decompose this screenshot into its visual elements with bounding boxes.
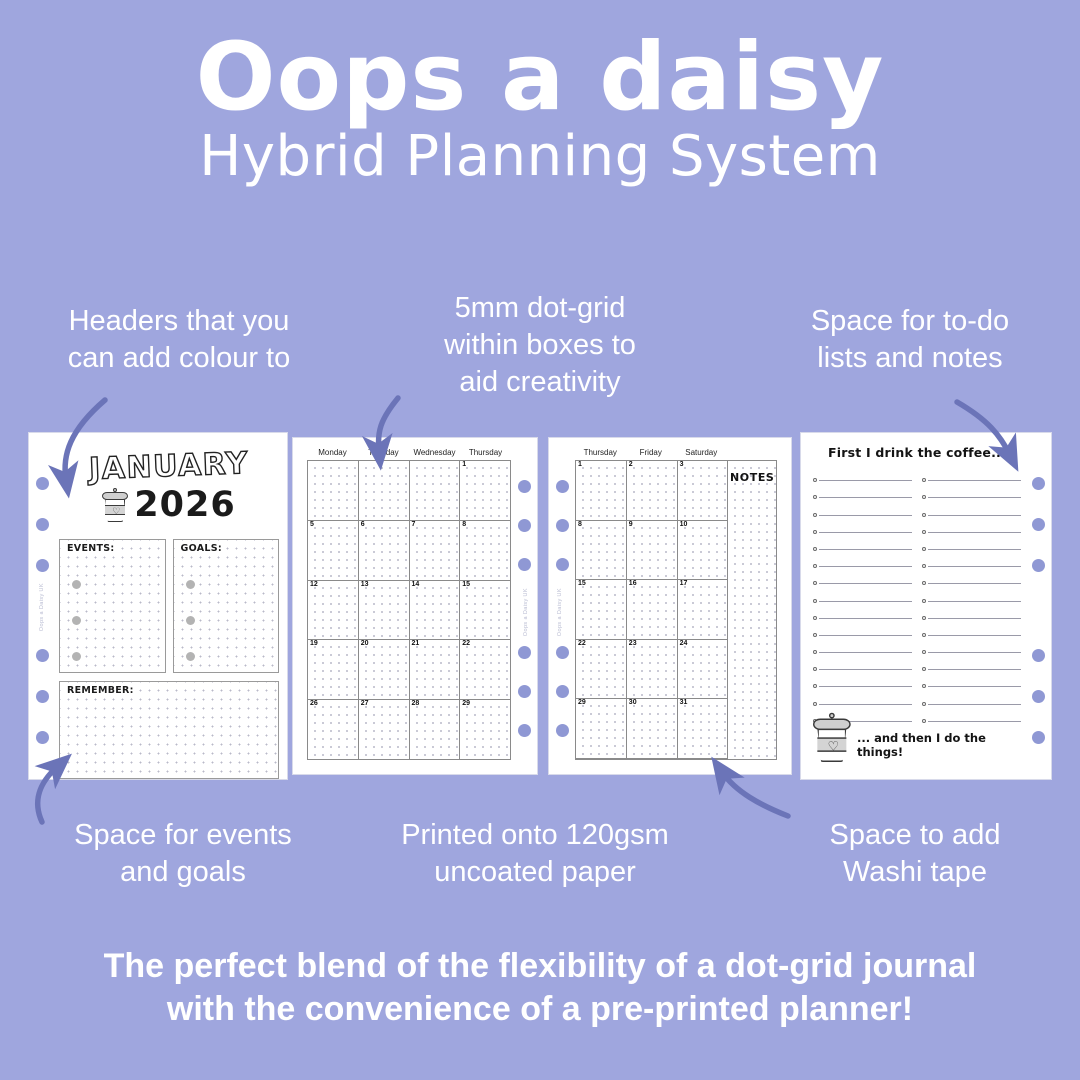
planner-page-month-cover: Oops a Daisy UK JANUARY 2026 EVENTS: GOA…: [28, 432, 288, 780]
day-number: 30: [629, 699, 637, 706]
punch-hole: [36, 477, 49, 490]
punch-hole: [1032, 477, 1045, 490]
punch-hole: [36, 731, 49, 744]
todo-list-item[interactable]: [922, 586, 1021, 603]
calendar-day-cell[interactable]: 24: [678, 640, 728, 699]
todo-write-line[interactable]: [928, 686, 1021, 687]
calendar-day-cell[interactable]: 16: [627, 580, 678, 639]
punch-hole: [556, 480, 569, 493]
day-number: 12: [310, 581, 318, 588]
todo-list-item[interactable]: [922, 466, 1021, 483]
day-number: 3: [680, 461, 684, 468]
todo-list-item[interactable]: [813, 466, 912, 483]
planner-page-calendar-left: Oops a Daisy UK MondayTuesdayWednesdayTh…: [292, 437, 538, 775]
todo-write-line[interactable]: [928, 601, 1021, 602]
planner-page-todo-list: First I drink the coffee... ... and then…: [800, 432, 1052, 780]
day-number: 5: [310, 521, 314, 528]
todo-write-line[interactable]: [819, 480, 912, 481]
calendar-day-cell[interactable]: 27: [359, 700, 410, 759]
sheet-brand-text: Oops a Daisy UK: [557, 588, 563, 636]
calendar-day-cell[interactable]: 5: [308, 521, 359, 580]
todo-checkbox-icon[interactable]: [922, 581, 926, 585]
punch-hole: [36, 649, 49, 662]
goals-label: GOALS:: [179, 543, 224, 554]
callout-headers-colour: Headers that you can add colour to: [14, 303, 344, 377]
day-number: 23: [629, 640, 637, 647]
todo-checkbox-icon[interactable]: [813, 530, 817, 534]
calendar-day-cell[interactable]: 12: [308, 581, 359, 640]
bullet-dot: [72, 616, 81, 625]
arrow-to-washi: [722, 772, 788, 816]
todo-write-line[interactable]: [928, 566, 1021, 567]
day-number: 22: [462, 640, 470, 647]
day-number: 29: [462, 700, 470, 707]
todo-write-line[interactable]: [819, 686, 912, 687]
calendar-grid: 1238910151617222324293031 NOTES: [575, 460, 777, 760]
calendar-grid: 15678121314151920212226272829: [307, 460, 511, 760]
todo-write-line[interactable]: [819, 635, 912, 636]
calendar-day-cell[interactable]: 3: [678, 461, 728, 520]
todo-checkbox-icon[interactable]: [922, 650, 926, 654]
punch-hole: [556, 724, 569, 737]
todo-list-item[interactable]: [813, 655, 912, 672]
todo-checkbox-icon[interactable]: [922, 599, 926, 603]
month-year: 2026: [134, 485, 235, 525]
calendar-day-cell[interactable]: 29: [460, 700, 510, 759]
todo-list-item[interactable]: [922, 500, 1021, 517]
punch-hole: [1032, 649, 1045, 662]
todo-list-item[interactable]: [922, 518, 1021, 535]
day-number: 8: [462, 521, 466, 528]
day-number: 31: [680, 699, 688, 706]
calendar-day-headers: MondayTuesdayWednesdayThursday: [307, 448, 511, 460]
todo-write-line[interactable]: [928, 532, 1021, 533]
month-title: JANUARY: [58, 445, 279, 488]
tagline: The perfect blend of the flexibility of …: [50, 945, 1030, 1031]
bullet-dot: [186, 652, 195, 661]
todo-list-item[interactable]: [813, 672, 912, 689]
todo-list-item[interactable]: [922, 655, 1021, 672]
planner-page-calendar-right: Oops a Daisy UK ThursdayFridaySaturday 1…: [548, 437, 792, 775]
todo-list-item[interactable]: [813, 638, 912, 655]
todo-list-item[interactable]: [813, 586, 912, 603]
todo-write-line[interactable]: [819, 652, 912, 653]
todo-list-item[interactable]: [813, 552, 912, 569]
todo-checkbox-icon[interactable]: [922, 633, 926, 637]
todo-write-line[interactable]: [928, 652, 1021, 653]
punch-hole: [556, 519, 569, 532]
todo-write-line[interactable]: [928, 618, 1021, 619]
punch-hole: [518, 646, 531, 659]
todo-checkbox-icon[interactable]: [922, 495, 926, 499]
todo-list-item[interactable]: [922, 672, 1021, 689]
day-number: 24: [680, 640, 688, 647]
todo-checkbox-icon[interactable]: [813, 599, 817, 603]
calendar-day-headers: ThursdayFridaySaturday: [575, 448, 777, 460]
day-number: 28: [412, 700, 420, 707]
events-box: EVENTS:: [59, 539, 166, 673]
todo-checkbox-icon[interactable]: [813, 616, 817, 620]
punch-hole: [518, 558, 531, 571]
punch-hole: [518, 724, 531, 737]
calendar-week-row: 123: [576, 461, 727, 521]
calendar-week-row: 222324: [576, 640, 727, 700]
calendar-day-cell[interactable]: [359, 461, 410, 520]
calendar-day-cell[interactable]: 19: [308, 640, 359, 699]
todo-write-line[interactable]: [819, 549, 912, 550]
calendar-day-cell[interactable]: 22: [576, 640, 627, 699]
day-header-wednesday: Wednesday: [409, 448, 460, 460]
todo-title: First I drink the coffee...: [813, 445, 1021, 460]
callout-washi-tape: Space to add Washi tape: [770, 817, 1060, 891]
todo-checkbox-icon[interactable]: [922, 478, 926, 482]
events-label: EVENTS:: [65, 543, 117, 554]
header: Oops a Daisy Hybrid Planning System: [0, 0, 1080, 187]
day-number: 14: [412, 581, 420, 588]
day-number: 22: [578, 640, 586, 647]
calendar-day-cell[interactable]: 9: [627, 521, 678, 580]
day-number: 27: [361, 700, 369, 707]
day-number: 19: [310, 640, 318, 647]
todo-write-line[interactable]: [819, 532, 912, 533]
sheet-brand-text: Oops a Daisy UK: [39, 583, 45, 631]
todo-checkbox-icon[interactable]: [813, 547, 817, 551]
day-number: 20: [361, 640, 369, 647]
todo-checkbox-icon[interactable]: [922, 702, 926, 706]
todo-checkbox-icon[interactable]: [813, 581, 817, 585]
day-number: 16: [629, 580, 637, 587]
todo-footer-text: ... and then I do the things!: [857, 731, 1021, 759]
todo-list-item[interactable]: [922, 689, 1021, 706]
calendar-day-cell[interactable]: 29: [576, 699, 627, 758]
day-header-saturday: Saturday: [676, 448, 727, 460]
todo-write-line[interactable]: [928, 669, 1021, 670]
punch-hole: [556, 646, 569, 659]
bullet-dot: [186, 580, 195, 589]
day-header-thursday: Thursday: [575, 448, 626, 460]
todo-checkbox-icon[interactable]: [813, 650, 817, 654]
brand-subtitle: Hybrid Planning System: [0, 128, 1080, 187]
todo-list-item[interactable]: [813, 500, 912, 517]
calendar-week-row: 12131415: [308, 581, 510, 641]
calendar-day-cell[interactable]: [308, 461, 359, 520]
todo-list-item[interactable]: [922, 535, 1021, 552]
punch-hole: [1032, 690, 1045, 703]
punch-hole: [518, 519, 531, 532]
todo-list-item[interactable]: [813, 621, 912, 638]
notes-label: NOTES: [730, 471, 775, 484]
calendar-day-cell[interactable]: 6: [359, 521, 410, 580]
calendar-week-row: 8910: [576, 521, 727, 581]
day-number: 8: [578, 521, 582, 528]
calendar-day-cell[interactable]: 1: [576, 461, 627, 520]
todo-column-left: [813, 466, 912, 724]
calendar-day-cell[interactable]: 15: [460, 581, 510, 640]
day-number: 26: [310, 700, 318, 707]
todo-checkbox-icon[interactable]: [922, 684, 926, 688]
todo-list-item[interactable]: [813, 518, 912, 535]
calendar-week-row: 5678: [308, 521, 510, 581]
day-header-friday: Friday: [626, 448, 677, 460]
day-number: 6: [361, 521, 365, 528]
callout-todo-lists: Space for to-do lists and notes: [760, 303, 1060, 377]
todo-write-line[interactable]: [928, 635, 1021, 636]
todo-list-item[interactable]: [813, 689, 912, 706]
todo-checkbox-icon[interactable]: [922, 616, 926, 620]
calendar-day-cell[interactable]: 28: [410, 700, 461, 759]
calendar-week-row: 19202122: [308, 640, 510, 700]
todo-write-line[interactable]: [819, 566, 912, 567]
todo-write-line[interactable]: [928, 549, 1021, 550]
bullet-dot: [72, 652, 81, 661]
punch-hole: [556, 558, 569, 571]
todo-checkbox-icon[interactable]: [813, 495, 817, 499]
todo-write-line[interactable]: [928, 515, 1021, 516]
coffee-cup-icon: [102, 488, 128, 522]
callout-events-goals: Space for events and goals: [28, 817, 338, 891]
day-number: 29: [578, 699, 586, 706]
todo-checkbox-icon[interactable]: [813, 478, 817, 482]
coffee-cup-icon: [813, 713, 851, 762]
todo-column-right: [922, 466, 1021, 724]
todo-checkbox-icon[interactable]: [813, 667, 817, 671]
todo-write-line[interactable]: [819, 618, 912, 619]
calendar-week-row: 1: [308, 461, 510, 521]
calendar-day-cell[interactable]: 8: [460, 521, 510, 580]
todo-checkbox-icon[interactable]: [922, 719, 926, 723]
day-number: 2: [629, 461, 633, 468]
notes-column: NOTES: [727, 461, 776, 759]
calendar-day-cell[interactable]: 22: [460, 640, 510, 699]
todo-checkbox-icon[interactable]: [922, 547, 926, 551]
calendar-day-cell[interactable]: 10: [678, 521, 728, 580]
todo-list-item[interactable]: [922, 569, 1021, 586]
sheet-brand-text: Oops a Daisy UK: [523, 588, 529, 636]
todo-write-line[interactable]: [819, 497, 912, 498]
punch-hole: [36, 690, 49, 703]
day-number: 13: [361, 581, 369, 588]
calendar-day-cell[interactable]: 31: [678, 699, 728, 758]
todo-checkbox-icon[interactable]: [813, 513, 817, 517]
todo-list-item[interactable]: [813, 535, 912, 552]
todo-write-line[interactable]: [928, 480, 1021, 481]
bullet-dot: [186, 616, 195, 625]
punch-holes-right: [1025, 433, 1051, 779]
calendar-day-cell[interactable]: 1: [460, 461, 510, 520]
todo-checkbox-icon[interactable]: [813, 564, 817, 568]
punch-hole: [36, 559, 49, 572]
day-number: 1: [462, 461, 466, 468]
remember-label: REMEMBER:: [65, 685, 136, 696]
todo-list-item[interactable]: [922, 552, 1021, 569]
todo-list-item[interactable]: [922, 483, 1021, 500]
bullet-dot: [72, 580, 81, 589]
calendar-day-cell[interactable]: 21: [410, 640, 461, 699]
calendar-day-cell[interactable]: 2: [627, 461, 678, 520]
calendar-day-cell[interactable]: 17: [678, 580, 728, 639]
todo-write-line[interactable]: [928, 497, 1021, 498]
day-number: 9: [629, 521, 633, 528]
todo-write-line[interactable]: [819, 601, 912, 602]
day-number: 7: [412, 521, 416, 528]
punch-hole: [1032, 731, 1045, 744]
todo-list-item[interactable]: [922, 707, 1021, 724]
todo-checkbox-icon[interactable]: [922, 513, 926, 517]
todo-write-line[interactable]: [928, 704, 1021, 705]
todo-checkbox-icon[interactable]: [922, 530, 926, 534]
todo-list-item[interactable]: [813, 483, 912, 500]
calendar-day-cell[interactable]: 8: [576, 521, 627, 580]
brand-title: Oops a Daisy: [0, 30, 1080, 126]
day-number: 15: [578, 580, 586, 587]
todo-checkbox-icon[interactable]: [813, 702, 817, 706]
calendar-day-cell[interactable]: 15: [576, 580, 627, 639]
day-number: 1: [578, 461, 582, 468]
remember-box: REMEMBER:: [59, 681, 279, 779]
todo-write-line[interactable]: [928, 583, 1021, 584]
punch-hole: [36, 518, 49, 531]
todo-list-item[interactable]: [922, 621, 1021, 638]
notes-header-spacer: [727, 448, 778, 460]
day-number: 17: [680, 580, 688, 587]
day-number: 21: [412, 640, 420, 647]
calendar-day-cell[interactable]: 23: [627, 640, 678, 699]
calendar-day-cell[interactable]: 26: [308, 700, 359, 759]
calendar-week-row: 26272829: [308, 700, 510, 759]
calendar-day-cell[interactable]: 7: [410, 521, 461, 580]
todo-footer: ... and then I do the things!: [813, 728, 1021, 762]
punch-hole: [518, 685, 531, 698]
calendar-day-cell[interactable]: 13: [359, 581, 410, 640]
punch-hole: [1032, 518, 1045, 531]
goals-box: GOALS:: [173, 539, 280, 673]
todo-list-item[interactable]: [922, 638, 1021, 655]
todo-write-line[interactable]: [819, 515, 912, 516]
todo-checkbox-icon[interactable]: [922, 667, 926, 671]
calendar-day-cell[interactable]: 20: [359, 640, 410, 699]
todo-list-item[interactable]: [813, 569, 912, 586]
punch-hole: [518, 480, 531, 493]
todo-write-line[interactable]: [819, 704, 912, 705]
calendar-day-cell[interactable]: 14: [410, 581, 461, 640]
calendar-day-cell[interactable]: [410, 461, 461, 520]
calendar-day-cell[interactable]: 30: [627, 699, 678, 758]
callout-paper-weight: Printed onto 120gsm uncoated paper: [350, 817, 720, 891]
todo-checkbox-icon[interactable]: [813, 684, 817, 688]
callout-dot-grid: 5mm dot-grid within boxes to aid creativ…: [390, 290, 690, 401]
todo-write-line[interactable]: [819, 583, 912, 584]
day-number: 15: [462, 581, 470, 588]
day-header-tuesday: Tuesday: [358, 448, 409, 460]
todo-write-line[interactable]: [928, 721, 1021, 722]
todo-list-item[interactable]: [813, 604, 912, 621]
day-number: 10: [680, 521, 688, 528]
todo-checkbox-icon[interactable]: [922, 564, 926, 568]
calendar-week-row: 151617: [576, 580, 727, 640]
calendar-week-row: 293031: [576, 699, 727, 759]
punch-hole: [1032, 559, 1045, 572]
punch-hole: [556, 685, 569, 698]
todo-write-line[interactable]: [819, 669, 912, 670]
day-header-thursday: Thursday: [460, 448, 511, 460]
todo-list-item[interactable]: [922, 604, 1021, 621]
day-header-monday: Monday: [307, 448, 358, 460]
todo-checkbox-icon[interactable]: [813, 633, 817, 637]
